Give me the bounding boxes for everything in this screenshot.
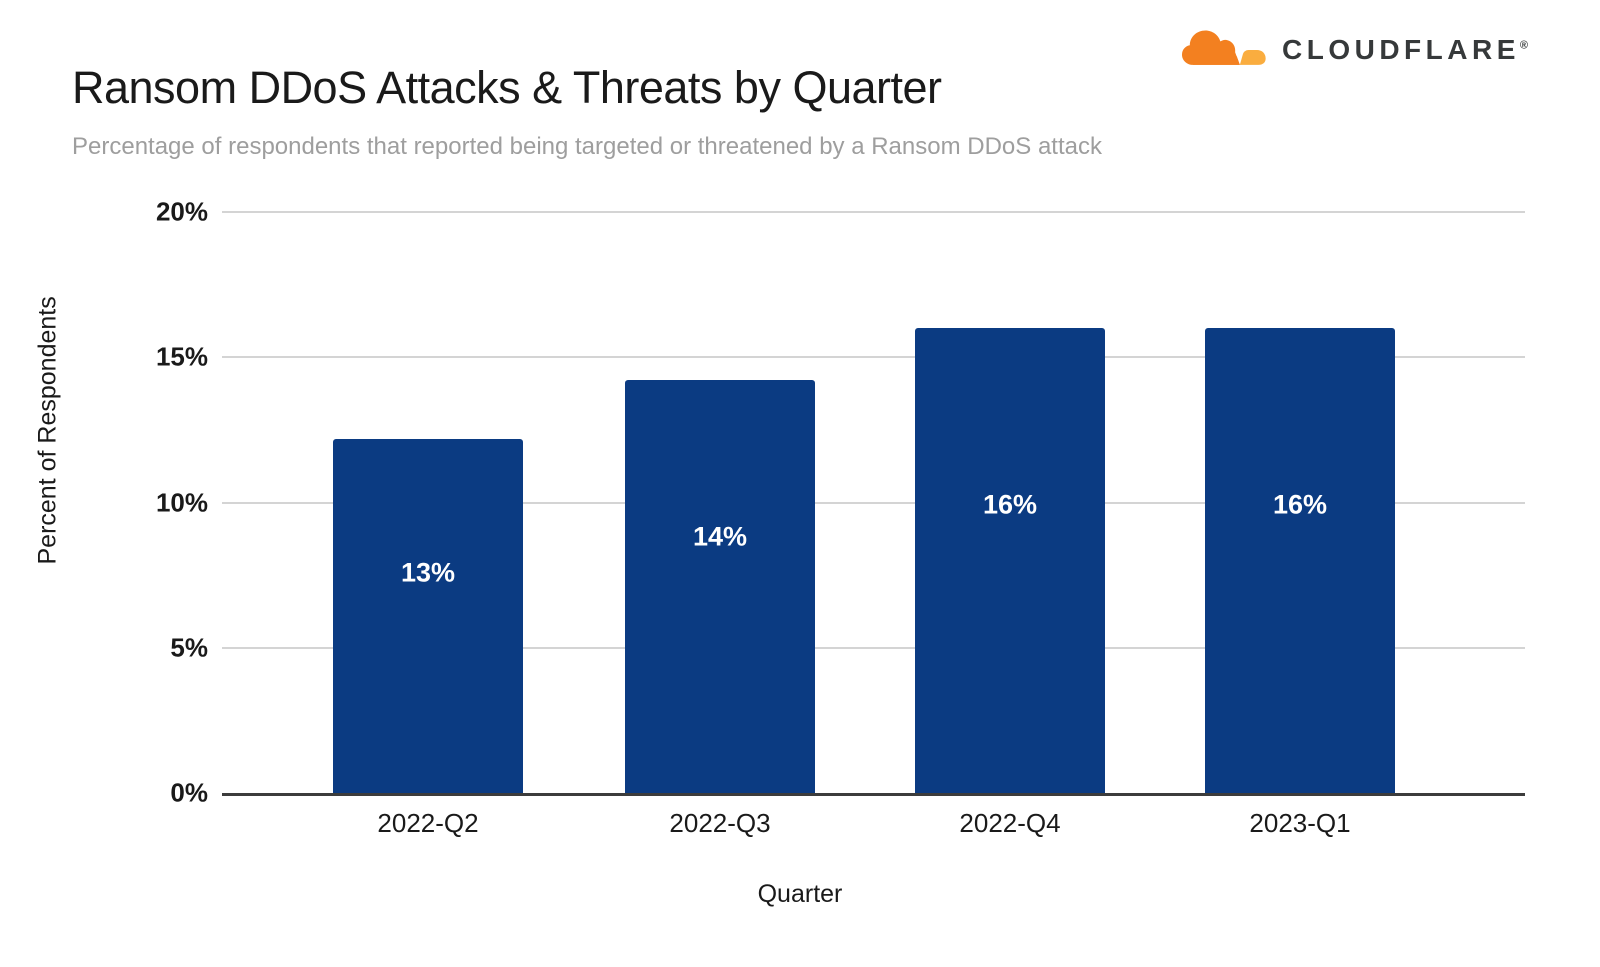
bar-chart: Percent of Respondents Quarter 0%5%10%15… <box>0 0 1600 967</box>
y-tick-label: 15% <box>68 342 208 373</box>
x-axis-line <box>222 793 1525 796</box>
y-axis-title: Percent of Respondents <box>34 305 63 565</box>
y-tick-label: 10% <box>68 487 208 518</box>
bar-value-label: 16% <box>915 489 1105 520</box>
x-axis-title: Quarter <box>0 880 1600 909</box>
bar-value-label: 16% <box>1205 489 1395 520</box>
x-tick-label: 2022-Q2 <box>298 808 558 839</box>
x-tick-label: 2022-Q3 <box>590 808 850 839</box>
gridline <box>222 211 1525 213</box>
y-tick-label: 0% <box>68 778 208 809</box>
bar-value-label: 14% <box>625 522 815 553</box>
bar[interactable] <box>1205 328 1395 793</box>
bar[interactable] <box>625 380 815 793</box>
bar[interactable] <box>333 439 523 793</box>
y-tick-label: 5% <box>68 632 208 663</box>
x-tick-label: 2023-Q1 <box>1170 808 1430 839</box>
bar[interactable] <box>915 328 1105 793</box>
x-tick-label: 2022-Q4 <box>880 808 1140 839</box>
y-tick-label: 20% <box>68 197 208 228</box>
bar-value-label: 13% <box>333 558 523 589</box>
